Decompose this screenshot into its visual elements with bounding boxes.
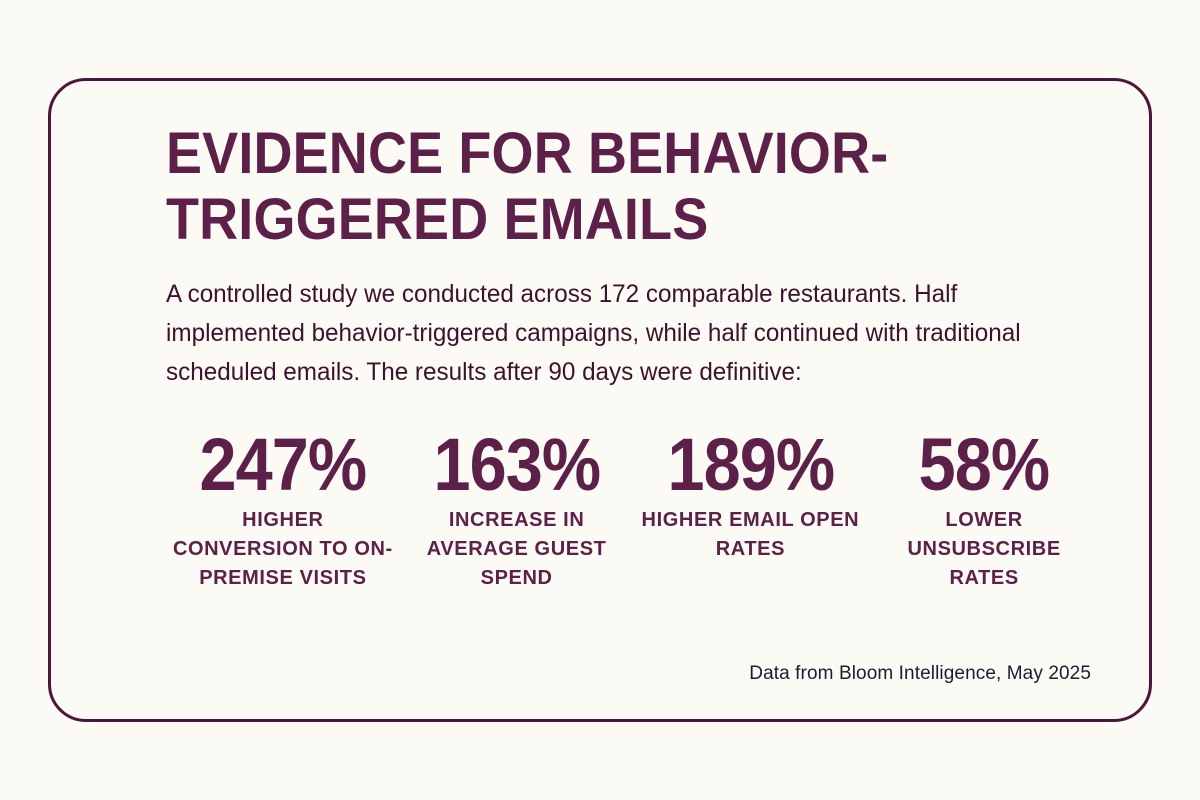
stat-label: Increase in average guest spend	[404, 506, 630, 593]
stat-label: Higher conversion to on-premise visits	[170, 506, 396, 593]
stat-value: 189%	[649, 426, 852, 504]
stat-value: 58%	[883, 426, 1086, 504]
stat-label: Higher email open rates	[638, 506, 864, 564]
stat-card: Evidence for Behavior-Triggered Emails A…	[48, 78, 1152, 722]
stat-value: 163%	[415, 426, 618, 504]
stat-block: 163% Increase in average guest spend	[400, 426, 634, 593]
stat-block: 189% Higher email open rates	[634, 426, 868, 564]
source-attribution: Data from Bloom Intelligence, May 2025	[749, 663, 1091, 685]
card-content: Evidence for Behavior-Triggered Emails A…	[166, 121, 1101, 701]
page-title: Evidence for Behavior-Triggered Emails	[166, 121, 947, 253]
stats-row: 247% Higher conversion to on-premise vis…	[166, 426, 1101, 593]
stat-value: 247%	[181, 426, 384, 504]
stat-block: 247% Higher conversion to on-premise vis…	[166, 426, 400, 593]
stat-label: Lower unsubscribe rates	[871, 506, 1097, 593]
stat-block: 58% Lower unsubscribe rates	[867, 426, 1101, 593]
intro-paragraph: A controlled study we conducted across 1…	[166, 275, 1068, 392]
infographic-canvas: Evidence for Behavior-Triggered Emails A…	[0, 0, 1200, 800]
